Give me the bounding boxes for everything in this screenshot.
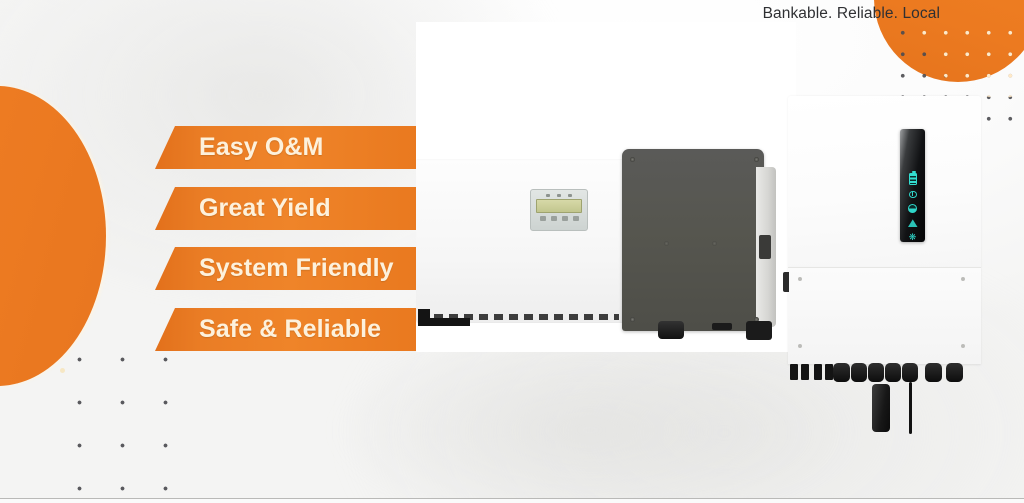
feature-banner-label: Easy O&M	[155, 133, 323, 162]
string-inverter-front-cover	[416, 159, 638, 323]
string-inverter-side-switch	[759, 235, 771, 259]
feature-banner: System Friendly	[155, 247, 417, 290]
battery-icon	[909, 173, 917, 185]
status-led-icon	[568, 194, 572, 197]
feature-banner-label: Great Yield	[155, 194, 331, 223]
lcd-button-row[interactable]	[536, 216, 582, 221]
cable-gland	[925, 363, 942, 382]
feature-banner: Easy O&M	[155, 126, 417, 169]
cable-gland	[902, 363, 918, 382]
lcd-button[interactable]	[540, 216, 546, 221]
power-icon	[909, 191, 917, 199]
cable-gland	[868, 363, 884, 382]
status-led-icon	[557, 194, 561, 197]
mc4-connector	[825, 364, 833, 380]
slide-tagline: Bankable. Reliable. Local	[763, 5, 940, 23]
cable-gland	[851, 363, 867, 382]
mc4-connector	[801, 364, 809, 380]
screw-icon	[798, 277, 802, 281]
hybrid-inverter-upper-housing	[788, 96, 981, 268]
screw-icon	[961, 277, 965, 281]
feature-banner: Great Yield	[155, 187, 417, 230]
cable-gland	[658, 321, 684, 339]
grid-icon	[908, 204, 917, 213]
feature-banner-label: System Friendly	[155, 254, 394, 283]
screw-icon	[630, 317, 635, 322]
presentation-slide: Bankable. Reliable. Local Easy O&M Great…	[0, 0, 1024, 503]
screw-icon	[961, 344, 965, 348]
hybrid-inverter-hinge	[783, 272, 789, 292]
warning-triangle-icon	[908, 219, 918, 227]
wifi-dongle	[872, 384, 890, 432]
feature-banner: Safe & Reliable	[155, 308, 417, 351]
mc4-connector	[790, 364, 798, 380]
lcd-button[interactable]	[551, 216, 557, 221]
product-photo-panel	[416, 22, 796, 352]
inverter-foot	[746, 321, 772, 340]
screw-icon	[712, 241, 717, 246]
cable-gland	[833, 363, 850, 382]
feature-banner-list: Easy O&M Great Yield System Friendly Saf…	[0, 0, 416, 503]
screw-icon	[664, 241, 669, 246]
lcd-status-leds	[536, 194, 582, 197]
screw-icon	[630, 157, 635, 162]
hybrid-inverter-lower-housing	[788, 267, 981, 364]
lcd-display-panel[interactable]	[530, 189, 588, 231]
lcd-button[interactable]	[562, 216, 568, 221]
cable-gland	[885, 363, 901, 382]
lcd-button[interactable]	[573, 216, 579, 221]
status-led-icon	[546, 194, 550, 197]
led-status-strip: ❋	[900, 129, 925, 242]
string-inverter-product-image	[416, 149, 780, 324]
screw-icon	[798, 344, 802, 348]
inverter-foot	[712, 323, 732, 330]
cable-gland	[946, 363, 963, 382]
string-inverter-heatsink-cover	[622, 149, 764, 331]
wifi-icon: ❋	[909, 233, 917, 242]
screw-icon	[754, 157, 759, 162]
feature-banner-label: Safe & Reliable	[155, 315, 381, 344]
lcd-screen	[536, 199, 582, 213]
hybrid-inverter-product-image: ❋	[788, 96, 988, 411]
mc4-connector	[814, 364, 822, 380]
antenna-cable	[909, 382, 912, 434]
slide-bottom-margin	[0, 499, 1024, 503]
slide-bottom-rule	[0, 498, 1024, 499]
